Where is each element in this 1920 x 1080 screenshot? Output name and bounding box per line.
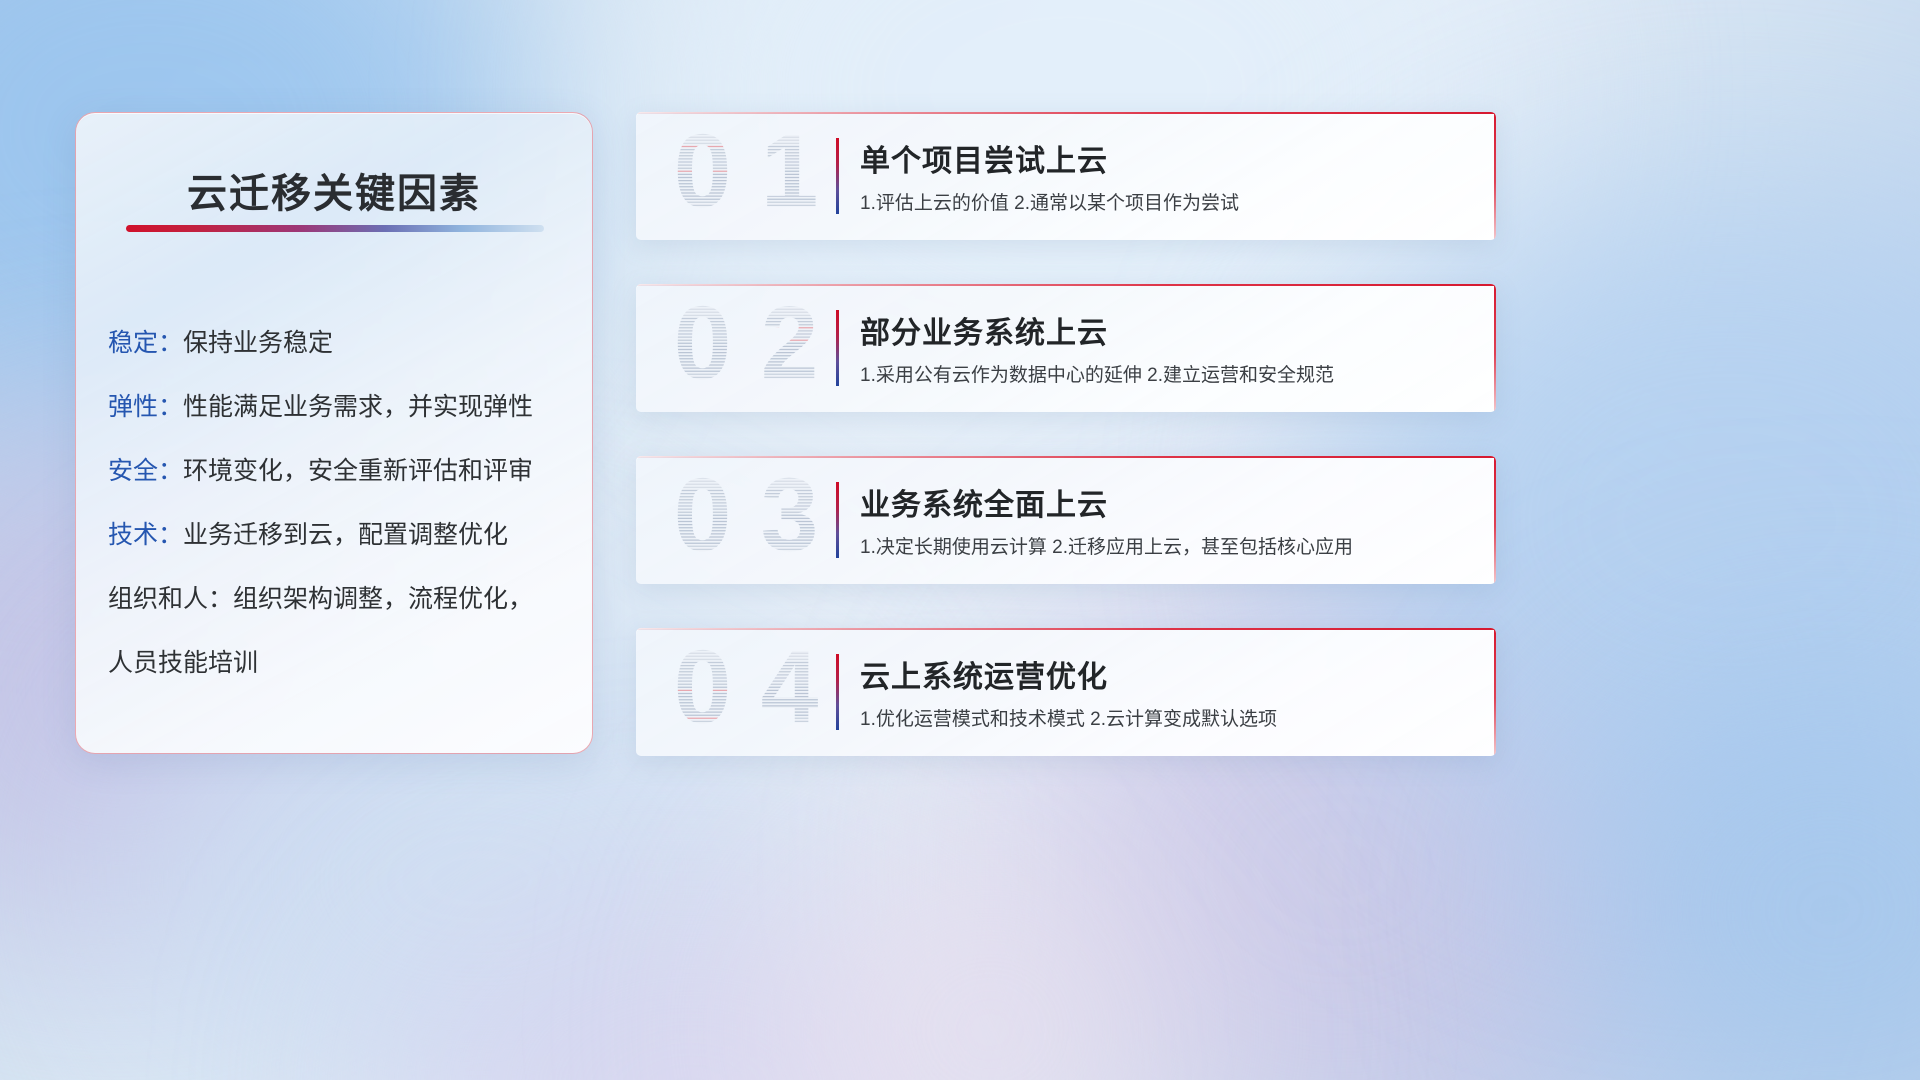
factor-text: 组织架构调整，流程优化，: [233, 585, 533, 613]
key-factors-panel: 云迁移关键因素 稳定：保持业务稳定弹性：性能满足业务需求，并实现弹性安全：环境变…: [75, 112, 593, 754]
stage-divider: [836, 482, 839, 558]
stage-divider: [836, 654, 839, 730]
factor-text: 性能满足业务需求，并实现弹性: [183, 393, 533, 421]
stage-description: 1.评估上云的价值 2.通常以某个项目作为尝试: [860, 188, 1239, 215]
factor-row: 弹性：性能满足业务需求，并实现弹性: [108, 375, 570, 439]
stage-number-graphic: 01: [662, 128, 830, 224]
factor-row: 组织和人：组织架构调整，流程优化，: [108, 567, 570, 631]
stage-title: 部分业务系统上云: [860, 308, 1108, 352]
stage-title: 云上系统运营优化: [860, 652, 1108, 696]
page-title: 云迁移关键因素: [76, 161, 592, 219]
stage-card[interactable]: 03业务系统全面上云1.决定长期使用云计算 2.迁移应用上云，甚至包括核心应用: [636, 456, 1496, 584]
stage-number-graphic: 03: [662, 472, 830, 568]
stage-card[interactable]: 01单个项目尝试上云1.评估上云的价值 2.通常以某个项目作为尝试: [636, 112, 1496, 240]
factor-key: 稳定：: [108, 329, 183, 357]
factor-row: 安全：环境变化，安全重新评估和评审: [108, 439, 570, 503]
stage-divider: [836, 310, 839, 386]
factor-text: 环境变化，安全重新评估和评审: [183, 457, 533, 485]
factor-key: 技术：: [108, 521, 183, 549]
factor-key: 组织和人：: [108, 585, 233, 613]
factor-key: 弹性：: [108, 393, 183, 421]
stage-number-graphic: 04: [662, 644, 830, 740]
stage-card[interactable]: 02部分业务系统上云1.采用公有云作为数据中心的延伸 2.建立运营和安全规范: [636, 284, 1496, 412]
stage-description: 1.采用公有云作为数据中心的延伸 2.建立运营和安全规范: [860, 360, 1334, 387]
factor-key: 安全：: [108, 457, 183, 485]
stage-card[interactable]: 04云上系统运营优化1.优化运营模式和技术模式 2.云计算变成默认选项: [636, 628, 1496, 756]
stage-description: 1.优化运营模式和技术模式 2.云计算变成默认选项: [860, 704, 1277, 731]
stage-title: 单个项目尝试上云: [860, 136, 1108, 180]
stage-description: 1.决定长期使用云计算 2.迁移应用上云，甚至包括核心应用: [860, 532, 1353, 559]
factor-text: 保持业务稳定: [183, 329, 333, 357]
stage-divider: [836, 138, 839, 214]
stage-card-list: 01单个项目尝试上云1.评估上云的价值 2.通常以某个项目作为尝试02部分业务系…: [636, 112, 1496, 800]
stage-title: 业务系统全面上云: [860, 480, 1108, 524]
factor-text: 人员技能培训: [108, 649, 258, 677]
factor-text: 业务迁移到云，配置调整优化: [183, 521, 508, 549]
factor-row: 稳定：保持业务稳定: [108, 311, 570, 375]
stage-number-graphic: 02: [662, 300, 830, 396]
factor-list: 稳定：保持业务稳定弹性：性能满足业务需求，并实现弹性安全：环境变化，安全重新评估…: [108, 311, 570, 695]
factor-row: 人员技能培训: [108, 631, 570, 695]
title-underline: [126, 225, 544, 232]
factor-row: 技术：业务迁移到云，配置调整优化: [108, 503, 570, 567]
